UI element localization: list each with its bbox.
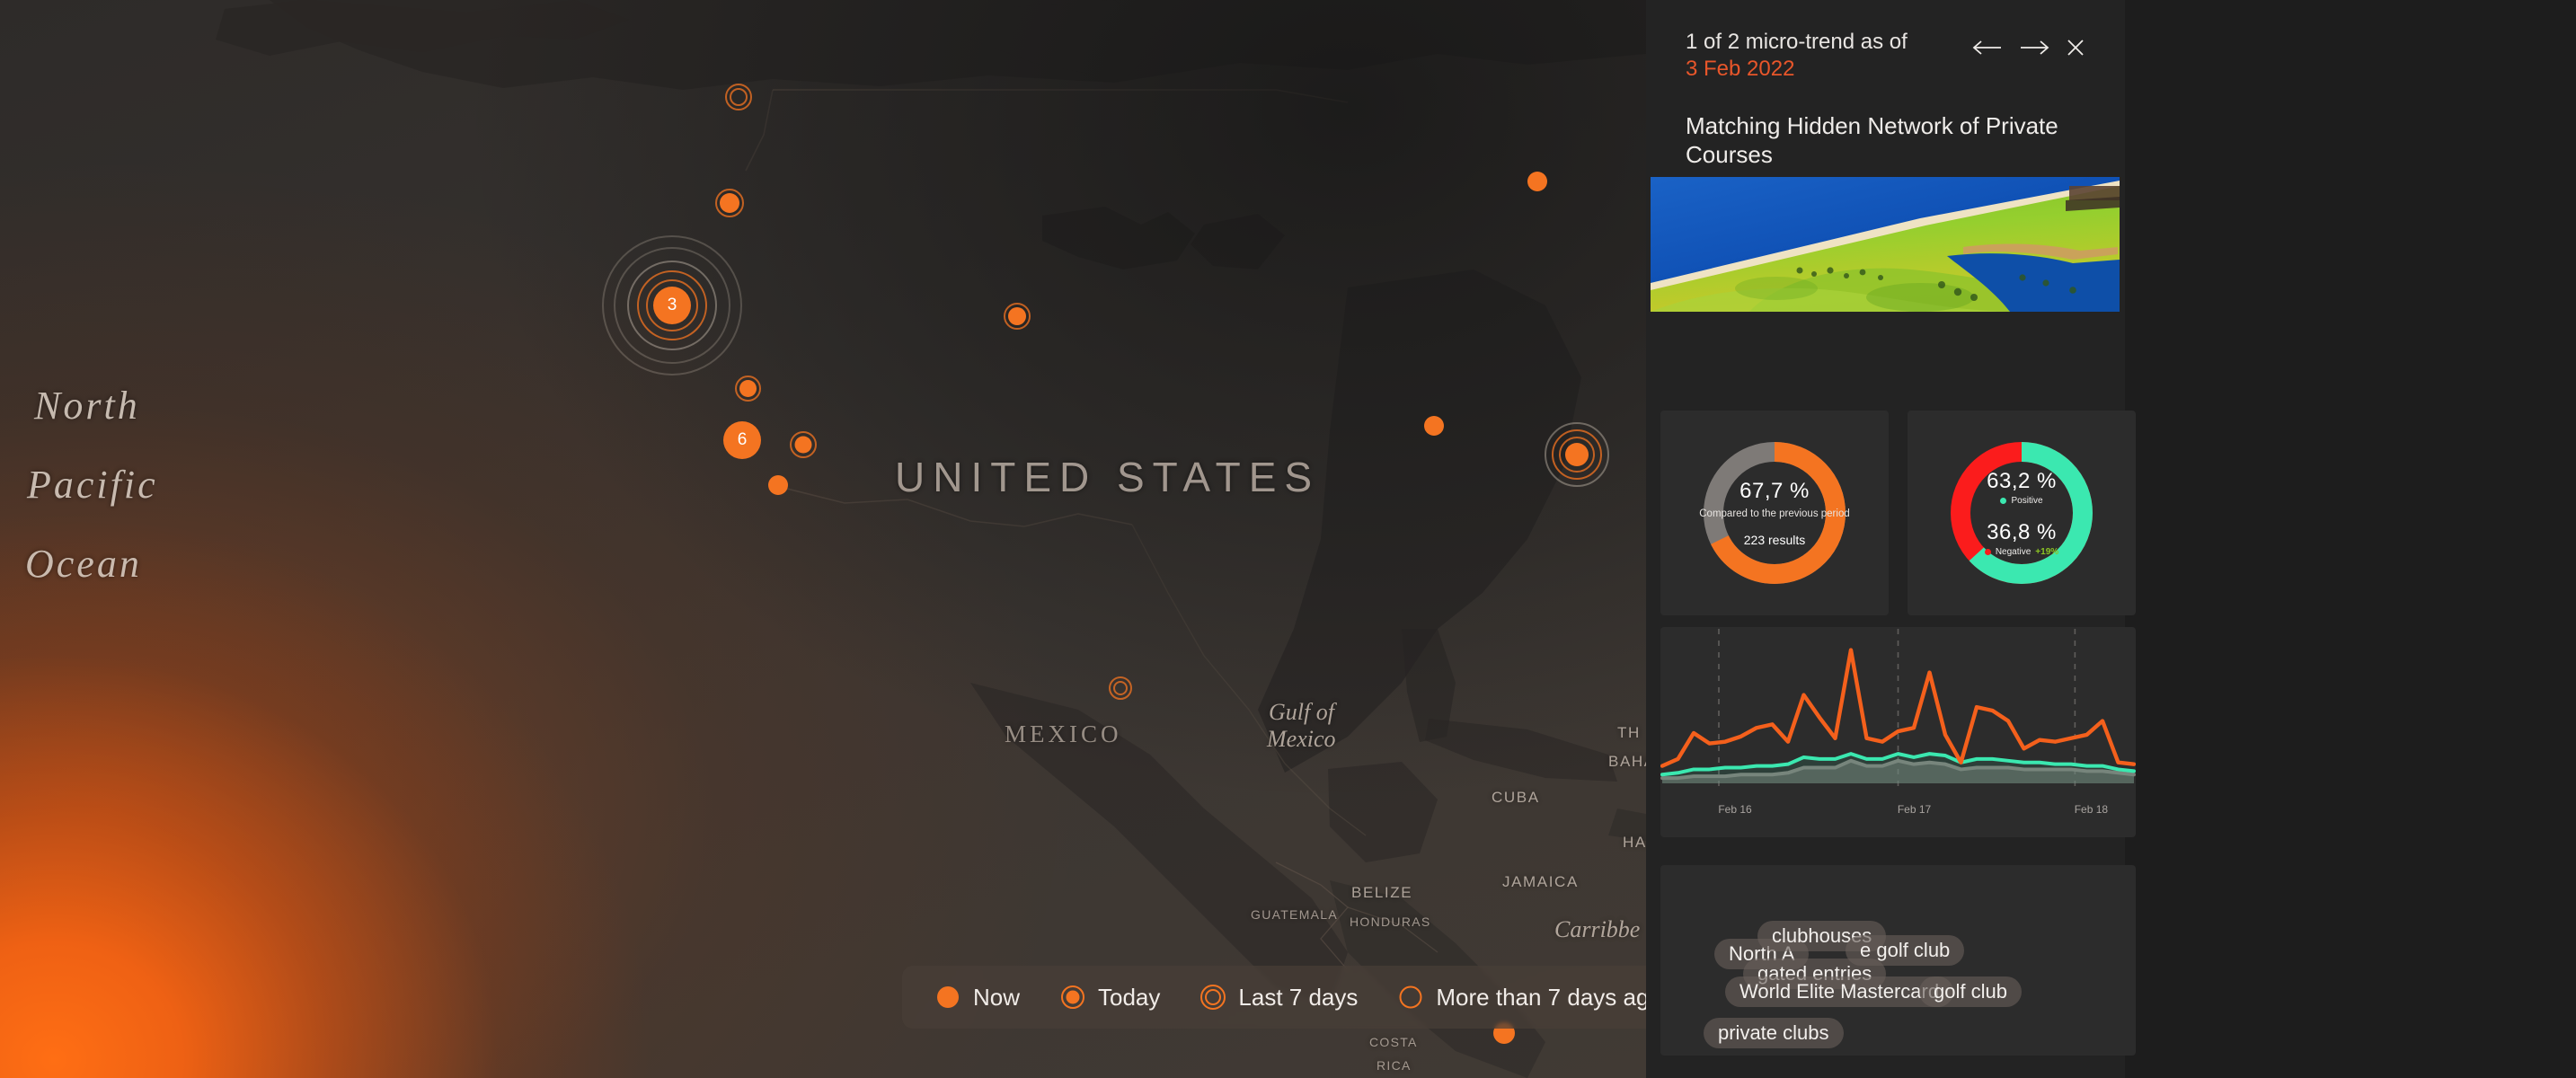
- marker-dot[interactable]: [739, 380, 757, 397]
- marker-dot[interactable]: [1527, 172, 1547, 191]
- world-map[interactable]: NorthPacificOceanUNITED STATESMEXICOGulf…: [0, 0, 1646, 1078]
- negative-legend: Negative +19%: [1985, 547, 2058, 557]
- map-marker[interactable]: 3: [602, 235, 742, 376]
- positive-value: 63,2 %: [1987, 469, 2057, 494]
- marker-count: 6: [723, 421, 761, 459]
- marker-dot[interactable]: [795, 437, 812, 454]
- marker-dot[interactable]: [1565, 443, 1589, 466]
- map-marker[interactable]: [1004, 303, 1031, 330]
- negative-dot-icon: [1985, 549, 1991, 555]
- panel-date: 3 Feb 2022: [1686, 57, 1794, 81]
- legend-item-label: Last 7 days: [1238, 984, 1358, 1012]
- hero-image-graphic: [1651, 177, 2120, 312]
- sentiment-delta: +19%: [2035, 547, 2058, 557]
- marker-dot[interactable]: [720, 193, 739, 213]
- map-marker[interactable]: [715, 189, 744, 217]
- chart-x-tick: Feb 16: [1718, 803, 1751, 816]
- previous-period-labels: 67,7 % Compared to the previous period 2…: [1697, 436, 1852, 590]
- legend-item-last-7-days[interactable]: Last 7 days: [1199, 984, 1358, 1012]
- chart-x-tick: Feb 18: [2075, 803, 2108, 816]
- legend-item-label: Now: [973, 984, 1020, 1012]
- map-time-legend[interactable]: NowTodayLast 7 daysMore than 7 days ag: [902, 966, 1646, 1029]
- legend-item-label: More than 7 days ag: [1436, 984, 1646, 1012]
- positive-legend: Positive: [2000, 496, 2042, 506]
- app-root: NorthPacificOceanUNITED STATESMEXICOGulf…: [0, 0, 2576, 1078]
- trend-line-chart-card[interactable]: Feb 16Feb 17Feb 18: [1660, 627, 2136, 837]
- close-icon[interactable]: [2066, 38, 2085, 57]
- marker-dot[interactable]: [768, 475, 788, 495]
- positive-dot-icon: [2000, 498, 2006, 504]
- negative-value: 36,8 %: [1987, 520, 2057, 545]
- legend-item-label: Today: [1098, 984, 1160, 1012]
- metrics-row: 67,7 % Compared to the previous period 2…: [1660, 411, 2136, 615]
- marker-dot[interactable]: 3: [653, 287, 691, 324]
- keyword-cloud-card[interactable]: North Aclubhousese golf clubgated entrie…: [1660, 865, 2136, 1056]
- map-vignette: [0, 0, 1646, 1078]
- previous-period-subtitle: Compared to the previous period: [1699, 508, 1850, 520]
- panel-nav[interactable]: [1972, 38, 2085, 57]
- legend-item-more-than-7-days-ag[interactable]: More than 7 days ag: [1397, 984, 1646, 1012]
- negative-label: Negative: [1996, 547, 2031, 557]
- previous-period-donut: 67,7 % Compared to the previous period 2…: [1697, 436, 1852, 590]
- map-marker[interactable]: 6: [723, 421, 761, 459]
- sentiment-card[interactable]: 63,2 % Positive 36,8 % Negative +19%: [1908, 411, 2136, 615]
- legend-item-today[interactable]: Today: [1059, 984, 1160, 1012]
- keyword-tag[interactable]: private clubs: [1704, 1018, 1844, 1048]
- map-marker[interactable]: [725, 84, 752, 110]
- panel-counter: 1 of 2 micro-trend as of 3 Feb 2022: [1686, 29, 1972, 83]
- previous-period-card[interactable]: 67,7 % Compared to the previous period 2…: [1660, 411, 1889, 615]
- map-marker[interactable]: [1527, 172, 1547, 191]
- arrow-left-icon[interactable]: [1972, 39, 2003, 57]
- panel-header: 1 of 2 micro-trend as of 3 Feb 2022: [1686, 0, 2085, 83]
- positive-label: Positive: [2011, 496, 2042, 506]
- chart-x-tick: Feb 17: [1898, 803, 1931, 816]
- map-marker[interactable]: [790, 431, 817, 458]
- marker-pulse-ring: [725, 84, 752, 110]
- previous-period-results: 223 results: [1744, 533, 1805, 547]
- filled-dot-icon: [934, 984, 961, 1011]
- hollow-ring-icon: [1397, 984, 1424, 1011]
- panel-title: Matching Hidden Network of Private Cours…: [1686, 111, 2085, 169]
- sentiment-labels: 63,2 % Positive 36,8 % Negative +19%: [1944, 436, 2099, 590]
- trend-hero-image[interactable]: [1651, 177, 2120, 312]
- map-marker[interactable]: [1109, 676, 1132, 700]
- sentiment-donut: 63,2 % Positive 36,8 % Negative +19%: [1944, 436, 2099, 590]
- ring-dot-icon: [1059, 984, 1086, 1011]
- marker-pulse-ring: [1109, 676, 1132, 700]
- previous-period-value: 67,7 %: [1739, 479, 1810, 504]
- map-marker[interactable]: [768, 475, 788, 495]
- arrow-right-icon[interactable]: [2019, 39, 2049, 57]
- map-marker[interactable]: [1545, 422, 1609, 487]
- panel-counter-text: 1 of 2 micro-trend as of: [1686, 30, 1908, 54]
- marker-dot[interactable]: 6: [723, 421, 761, 459]
- keyword-tag[interactable]: golf club: [1919, 976, 2022, 1007]
- double-ring-icon: [1199, 984, 1226, 1011]
- legend-item-now[interactable]: Now: [934, 984, 1020, 1012]
- marker-dot[interactable]: [1008, 307, 1026, 325]
- marker-dot[interactable]: [1424, 416, 1444, 436]
- marker-count: 3: [653, 287, 691, 324]
- map-marker[interactable]: [735, 376, 761, 402]
- map-marker[interactable]: [1424, 416, 1444, 436]
